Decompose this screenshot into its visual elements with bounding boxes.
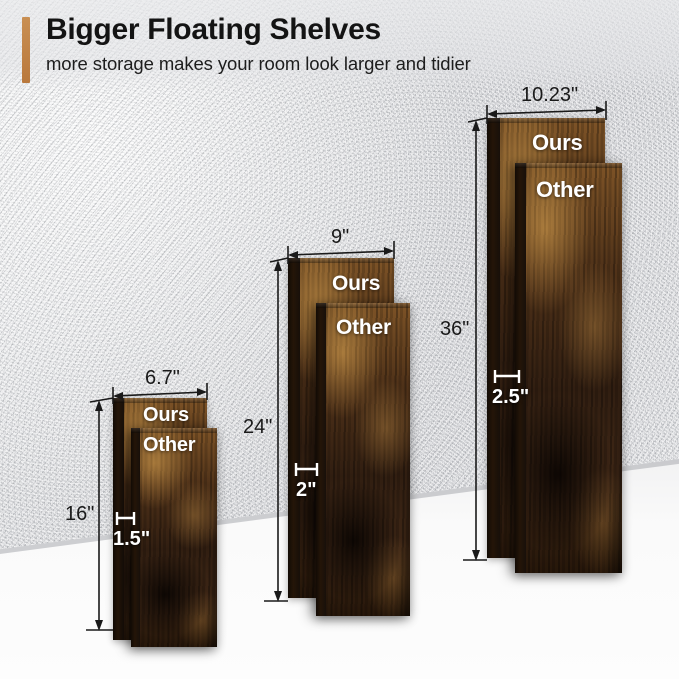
small-width-label: 6.7" [145, 367, 180, 390]
shelf-group-small: Ours Other 6.7" [0, 0, 679, 679]
infographic-canvas: Bigger Floating Shelves more storage mak… [0, 0, 679, 679]
page-subtitle: more storage makes your room look larger… [46, 53, 471, 75]
small-thickness-marker [0, 0, 679, 679]
accent-bar [22, 17, 30, 83]
page-title: Bigger Floating Shelves [46, 14, 471, 46]
header-text-block: Bigger Floating Shelves more storage mak… [46, 14, 471, 83]
small-thickness-label: 1.5" [113, 528, 150, 551]
header: Bigger Floating Shelves more storage mak… [22, 14, 471, 83]
small-height-label: 16" [65, 503, 94, 526]
